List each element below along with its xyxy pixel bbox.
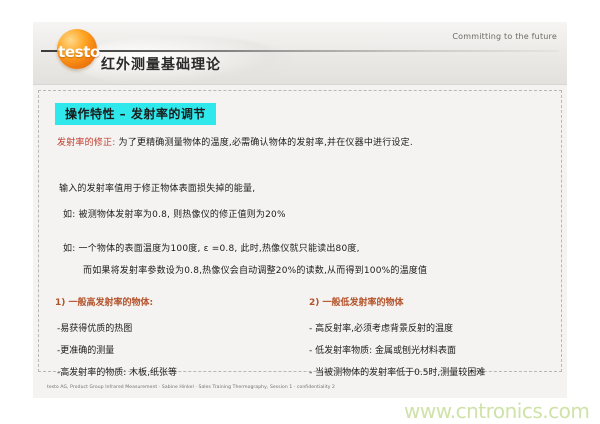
paragraph-3: 如: 一个物体的表面温度为100度, ε =0.8, 此时,热像仪就只能读出80…	[63, 241, 360, 254]
column-2-heading: 2) 一般低发射率的物体	[309, 295, 404, 308]
header-divider-line	[41, 50, 559, 52]
slide-title: 红外测量基础理论	[101, 54, 221, 74]
site-watermark: www.cntronics.com	[404, 399, 589, 423]
header-tagline: Committing to the future	[452, 32, 557, 41]
slide-canvas: testo Committing to the future 红外测量基础理论 …	[33, 22, 567, 398]
column-2-item-1: - 高反射率,必须考虑背景反射的温度	[309, 321, 453, 334]
column-1-item-1: -易获得优质的热图	[57, 321, 132, 334]
intro-rest: 为了更精确测量物体的温度,必需确认物体的发射率,并在仪器中进行设定.	[115, 138, 412, 148]
column-1-heading: 1) 一般高发射率的物体:	[55, 295, 153, 308]
intro-line: 发射率的修正: 为了更精确测量物体的温度,必需确认物体的发射率,并在仪器中进行设…	[57, 135, 413, 148]
column-2-item-3: - 当被测物体的发射率低于0.5时,测量较困难	[309, 365, 485, 378]
intro-highlight: 发射率的修正:	[57, 138, 115, 148]
column-1-item-3: -高发射率的物质: 木板,纸张等	[57, 365, 177, 378]
slide-header: testo Committing to the future 红外测量基础理论	[33, 22, 567, 84]
paragraph-1: 输入的发射率值用于修正物体表面损失掉的能量,	[59, 181, 255, 194]
logo-wordmark: testo	[50, 43, 108, 61]
testo-logo: testo	[49, 27, 107, 75]
slide-body: 操作特性 – 发射率的调节 发射率的修正: 为了更精确测量物体的温度,必需确认物…	[33, 84, 567, 398]
column-1-item-2: -更准确的测量	[57, 343, 114, 356]
slide-footer: testo AG, Product Group Infrared Measure…	[47, 385, 335, 390]
section-subtitle: 操作特性 – 发射率的调节	[55, 103, 216, 125]
paragraph-4: 而如果将发射率参数设为0.8,热像仪会自动调整20%的读数,从而得到100%的温…	[83, 263, 427, 276]
column-2-item-2: - 低发射率物质: 金属或刨光材料表面	[309, 343, 456, 356]
paragraph-2: 如: 被测物体发射率为0.8, 则热像仪的修正值则为20%	[63, 207, 286, 220]
